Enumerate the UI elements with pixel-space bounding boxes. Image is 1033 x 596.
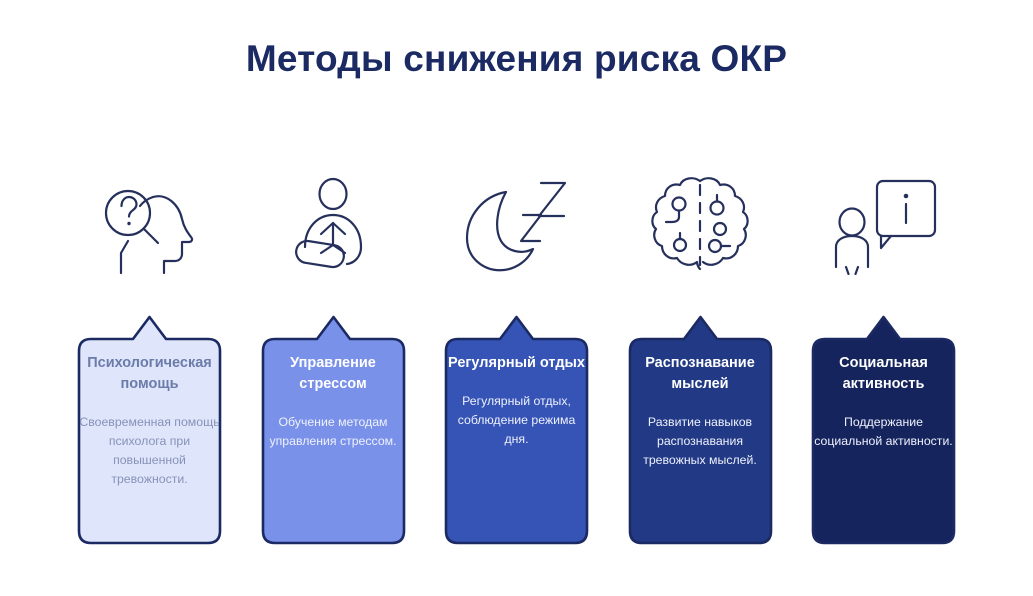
card-shape: Распознавание мыслей Развитие навыков ра… — [618, 315, 783, 555]
card-heading: Распознавание мыслей — [630, 353, 771, 395]
icon-wrap — [801, 160, 966, 290]
page-title: Методы снижения риска ОКР — [0, 38, 1033, 80]
card-stress-management[interactable]: Управление стрессом Обучение методам упр… — [251, 160, 416, 555]
card-text: Регулярный отдых Регулярный отдых, соблю… — [434, 315, 599, 555]
card-body: Регулярный отдых, соблюдение режима дня. — [446, 392, 587, 449]
card-thought-recognition[interactable]: Распознавание мыслей Развитие навыков ра… — [618, 160, 783, 555]
cards-row: Психологическая помощь Своевременная пом… — [67, 160, 966, 555]
icon-wrap — [434, 160, 599, 290]
moon-sleep-zzz-icon — [461, 175, 573, 275]
card-heading: Управление стрессом — [263, 353, 404, 395]
card-psychological-help[interactable]: Психологическая помощь Своевременная пом… — [67, 160, 232, 555]
brain-circuit-icon — [648, 175, 752, 275]
card-shape: Управление стрессом Обучение методам упр… — [251, 315, 416, 555]
card-body: Обучение методам управления стрессом. — [263, 413, 404, 451]
meditating-person-icon — [283, 175, 383, 275]
card-heading: Социальная активность — [813, 353, 954, 395]
card-heading: Регулярный отдых — [446, 353, 587, 374]
card-body: Развитие навыков распознавания тревожных… — [630, 413, 771, 470]
icon-wrap — [67, 160, 232, 290]
card-shape: Психологическая помощь Своевременная пом… — [67, 315, 232, 555]
card-body: Своевременная помощь психолога при повыш… — [79, 413, 220, 489]
card-regular-rest[interactable]: Регулярный отдых Регулярный отдых, соблю… — [434, 160, 599, 555]
card-text: Распознавание мыслей Развитие навыков ра… — [618, 315, 783, 555]
card-text: Социальная активность Поддержание социал… — [801, 315, 966, 555]
person-info-bubble-icon — [829, 175, 939, 275]
card-social-activity[interactable]: Социальная активность Поддержание социал… — [801, 160, 966, 555]
icon-wrap — [251, 160, 416, 290]
icon-wrap — [618, 160, 783, 290]
card-text: Управление стрессом Обучение методам упр… — [251, 315, 416, 555]
card-heading: Психологическая помощь — [79, 353, 220, 395]
card-text: Психологическая помощь Своевременная пом… — [67, 315, 232, 555]
head-question-magnifier-icon — [95, 175, 205, 275]
card-body: Поддержание социальной активности. — [813, 413, 954, 451]
card-shape: Регулярный отдых Регулярный отдых, соблю… — [434, 315, 599, 555]
card-shape: Социальная активность Поддержание социал… — [801, 315, 966, 555]
